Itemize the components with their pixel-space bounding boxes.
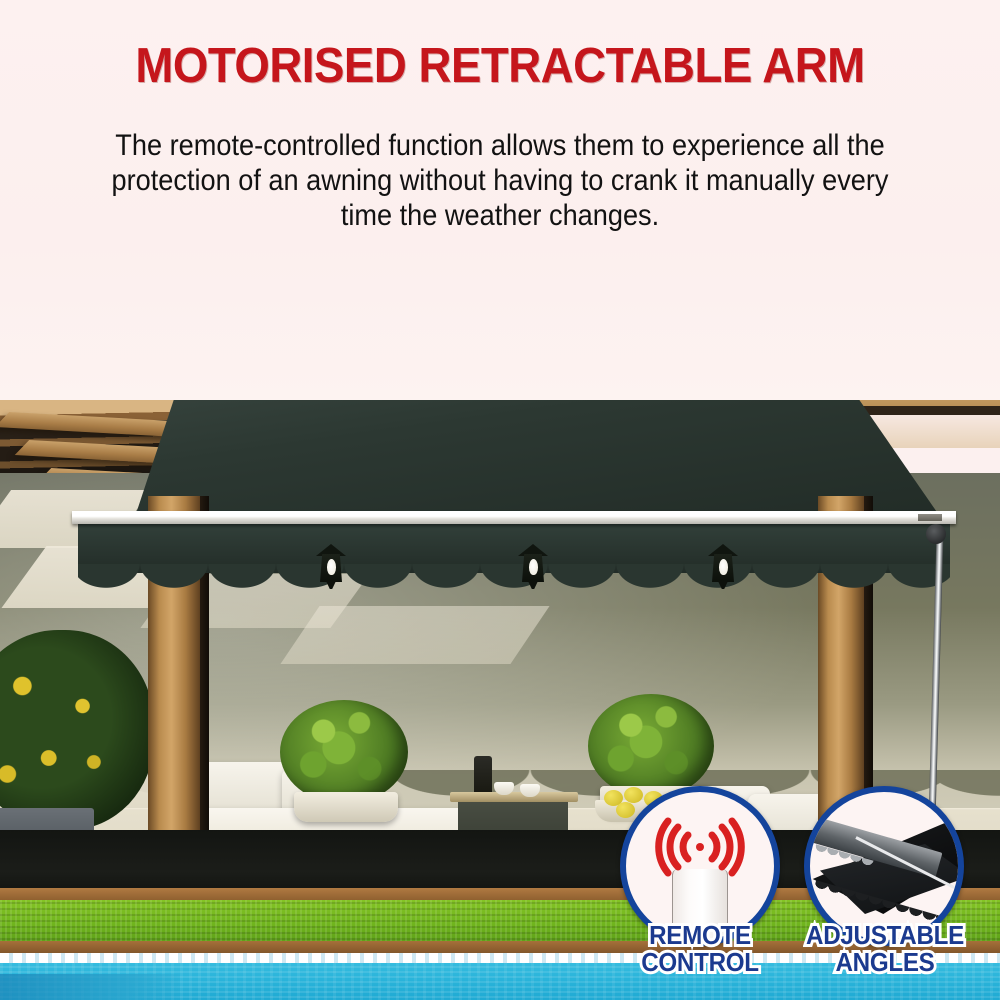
- lantern-base: [528, 581, 538, 589]
- page-description: The remote-controlled function allows th…: [95, 128, 905, 233]
- badge-label-remote-control: REMOTE CONTROL: [618, 922, 782, 975]
- side-table-top: [450, 792, 578, 802]
- wall-lantern: [518, 544, 548, 592]
- wall-lantern: [708, 544, 738, 592]
- sunlight-patch: [280, 606, 549, 664]
- awning-front-bar: [72, 511, 956, 524]
- awning-arm-joint: [926, 524, 946, 544]
- awning-scalloped-edge: [78, 564, 950, 592]
- topiary-bush: [588, 694, 714, 798]
- topiary-planter: [294, 792, 398, 822]
- pool-water-shadow: [0, 974, 180, 1000]
- feature-badge-remote-control[interactable]: REMOTE CONTROL: [612, 786, 788, 996]
- lantern-base: [326, 581, 336, 589]
- feature-badge-adjustable-angles[interactable]: ADJUSTABLE ANGLES: [790, 786, 980, 996]
- awning-bar-endcap: [918, 514, 942, 521]
- lantern-bulb: [327, 559, 336, 575]
- wall-lantern: [316, 544, 346, 592]
- page-title: MOTORISED RETRACTABLE ARM: [35, 38, 965, 94]
- wifi-signal-icon: [645, 807, 755, 877]
- topiary-bush: [280, 700, 408, 804]
- lantern-bulb: [719, 559, 728, 575]
- lemon-tree: [0, 630, 154, 830]
- header-banner: MOTORISED RETRACTABLE ARM The remote-con…: [0, 0, 1000, 400]
- badge-label-adjustable-angles: ADJUSTABLE ANGLES: [797, 922, 974, 975]
- lantern-base: [718, 581, 728, 589]
- lantern-bulb: [529, 559, 538, 575]
